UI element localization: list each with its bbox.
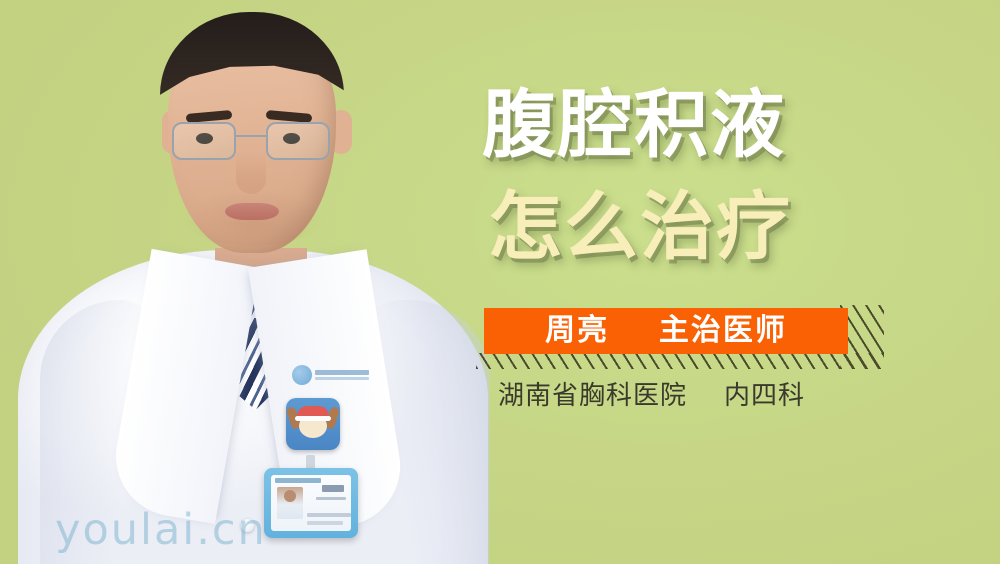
mouth [225,203,279,220]
doctor-name-banner: 周亮 主治医师 [484,308,848,354]
id-badge-field-2 [307,521,343,525]
glasses-lens-right [266,122,330,160]
glasses-lens-left [172,122,236,160]
id-badge [264,468,358,538]
hospital-department-caption: 湖南省胸科医院 内四科 [498,383,805,409]
id-badge-header [275,478,321,483]
text-block: 腹腔积液 怎么治疗 周亮 主治医师 湖南省胸科医院 内四科 [470,0,1000,564]
title-line-2: 怎么治疗 [488,190,908,264]
id-badge-field-1 [307,513,351,517]
hospital-logo-line-en [315,377,369,380]
glasses-bridge [236,135,266,137]
id-badge-name [322,485,344,492]
nose [236,150,266,194]
thumbnail-canvas: 腹腔积液 怎么治疗 周亮 主治医师 湖南省胸科医院 内四科 youlai.cn [0,0,1000,564]
hospital-logo-line-cn [315,370,369,375]
id-badge-subtitle [316,497,346,500]
watermark: youlai.cn [55,505,267,555]
doctor-photo [0,0,500,564]
hospital-logo-text [315,370,369,380]
pin-hat-band [295,416,331,421]
title-line-1: 腹腔积液 [482,88,902,162]
id-badge-photo [277,487,303,519]
hospital-logo [292,362,376,388]
hatch-decoration-bottom [476,353,884,369]
doctor-name-banner-label: 周亮 主治医师 [545,316,787,346]
cartoon-reindeer-pin-icon [286,398,340,450]
id-badge-card [271,475,351,531]
hospital-logo-mark-icon [292,365,312,385]
